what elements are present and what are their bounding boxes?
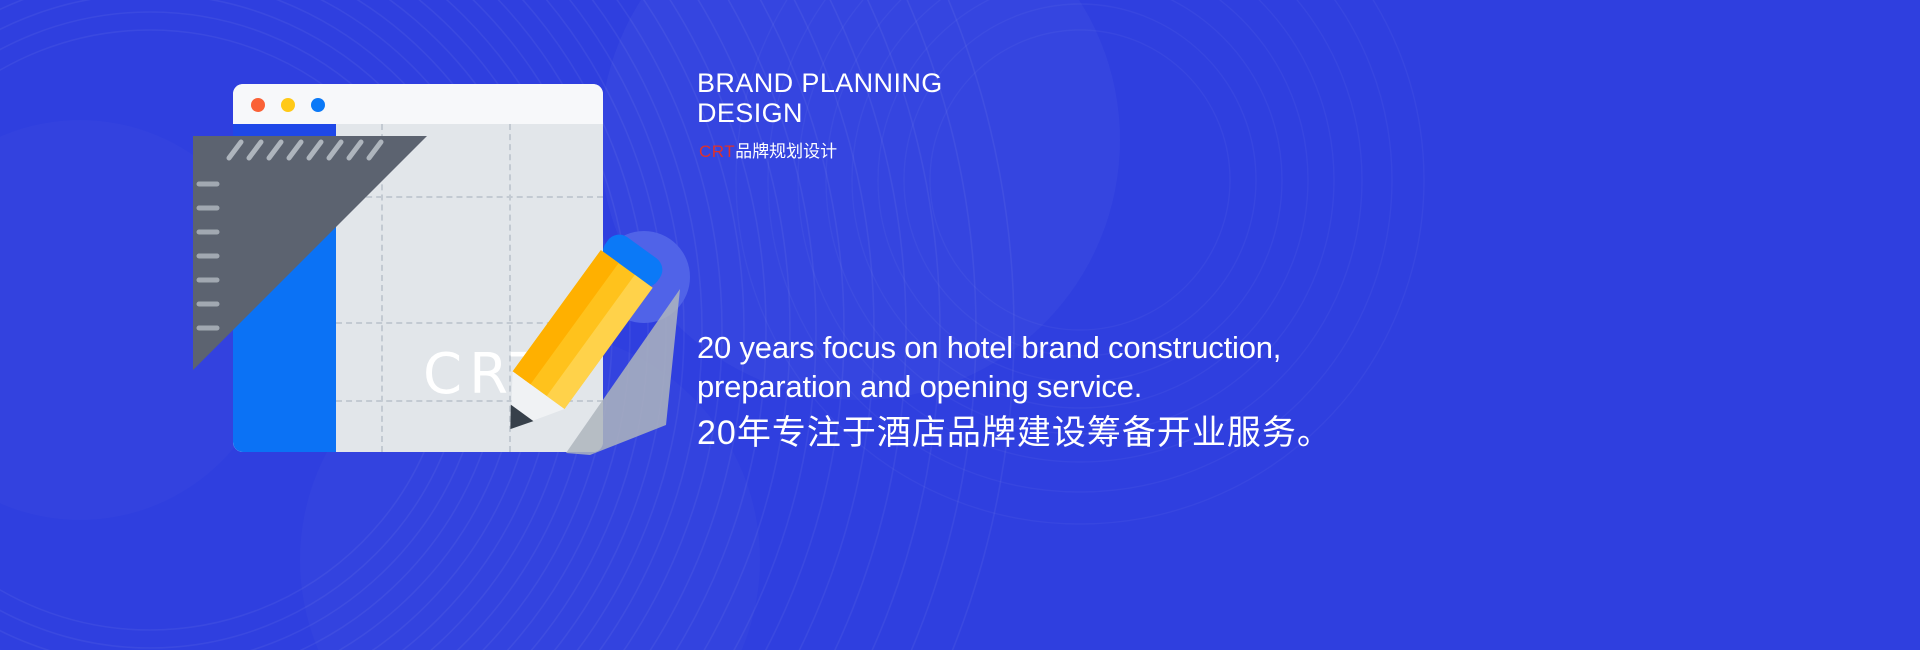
brand-illustration: CRT [185, 60, 685, 480]
subtitle-chinese: 品牌规划设计 [735, 142, 837, 161]
subtitle-brand-mark: CRT [699, 142, 735, 161]
maximize-dot [311, 98, 325, 112]
tagline-english: 20 years focus on hotel brand constructi… [697, 328, 1397, 406]
brand-banner: CRT [0, 0, 1920, 650]
banner-content: BRAND PLANNING DESIGN CRT品牌规划设计 20 years… [697, 0, 1797, 650]
headline-title: BRAND PLANNING DESIGN [697, 68, 943, 128]
close-dot [251, 98, 265, 112]
headline-subtitle: CRT品牌规划设计 [699, 141, 837, 163]
minimize-dot [281, 98, 295, 112]
tagline-chinese: 20年专注于酒店品牌建设筹备开业服务。 [697, 412, 1332, 454]
pencil-icon [470, 225, 690, 455]
set-square-ruler-icon [185, 128, 435, 378]
window-titlebar [233, 84, 603, 124]
